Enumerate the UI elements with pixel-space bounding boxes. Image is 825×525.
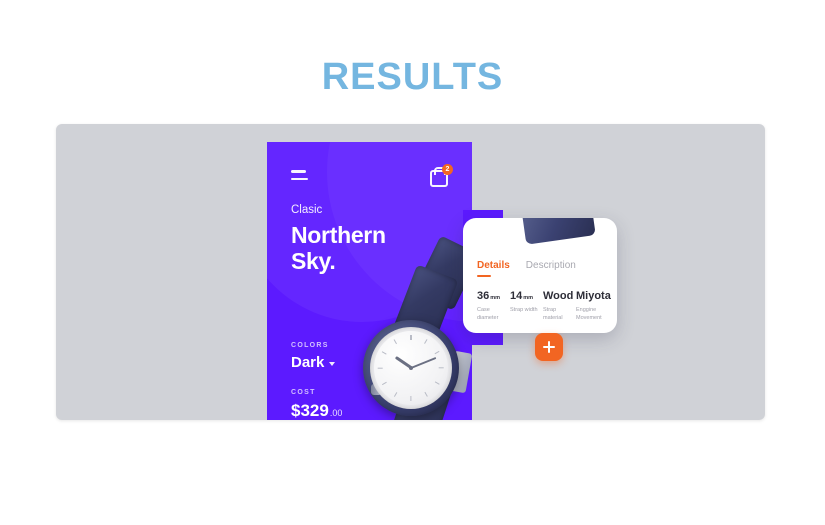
product-headline-block: Clasic Northern Sky. bbox=[291, 204, 456, 274]
watch-clasp bbox=[448, 351, 472, 394]
spec-label: Strap width bbox=[510, 306, 542, 314]
dial-tick bbox=[435, 351, 440, 355]
dial-tick bbox=[424, 339, 428, 344]
watch-center-pin bbox=[409, 366, 413, 370]
specs-row: 36mm Case diameter 14mm Strap width Wood… bbox=[477, 290, 611, 322]
shopping-bag-icon[interactable]: 2 bbox=[430, 166, 450, 188]
menu-bar-2 bbox=[291, 178, 308, 181]
cost-label: COST bbox=[291, 389, 401, 396]
watch-minute-hand bbox=[411, 357, 437, 369]
spec-value: Miyota bbox=[576, 290, 611, 302]
plus-icon-horizontal bbox=[543, 346, 555, 348]
spec-strap-width: 14mm Strap width bbox=[510, 290, 543, 322]
watch-strap-peek-image bbox=[520, 218, 595, 245]
dial-tick bbox=[435, 381, 440, 385]
dial-tick bbox=[410, 396, 411, 401]
spec-engine-movement: Miyota Enggine Movement bbox=[576, 290, 611, 322]
spec-number: 14 bbox=[510, 290, 522, 302]
dial-tick bbox=[439, 367, 444, 368]
price-display: $329 .00 bbox=[291, 401, 401, 420]
spec-number: Miyota bbox=[576, 290, 611, 302]
dial-tick bbox=[410, 335, 411, 340]
price-cents: .00 bbox=[330, 408, 343, 418]
spec-number: 36 bbox=[477, 290, 489, 302]
color-selected-value: Dark bbox=[291, 354, 324, 371]
spec-unit: mm bbox=[523, 295, 533, 301]
phone-mockup-screen: 2 Clasic Northern Sky. bbox=[267, 142, 472, 420]
product-title-line-1: Northern bbox=[291, 222, 456, 248]
spec-strap-material: Wood Strap material bbox=[543, 290, 576, 322]
dial-tick bbox=[424, 392, 428, 397]
spec-case-diameter: 36mm Case diameter bbox=[477, 290, 510, 322]
color-selector[interactable]: Dark bbox=[291, 354, 401, 371]
detail-card: Details Description 36mm Case diameter 1… bbox=[463, 218, 617, 333]
presentation-stage: 2 Clasic Northern Sky. bbox=[56, 124, 765, 420]
spec-value: 36mm bbox=[477, 290, 510, 302]
page-title: RESULTS bbox=[0, 56, 825, 99]
spec-value: 14mm bbox=[510, 290, 543, 302]
tab-description[interactable]: Description bbox=[526, 260, 576, 277]
spec-number: Wood bbox=[543, 290, 573, 302]
price-amount: $329 bbox=[291, 401, 329, 420]
product-title-line-2: Sky. bbox=[291, 248, 456, 274]
spec-label: Strap material bbox=[543, 306, 575, 322]
spec-unit: mm bbox=[490, 295, 500, 301]
spec-label: Enggine Movement bbox=[576, 306, 608, 322]
colors-label: COLORS bbox=[291, 342, 401, 349]
tab-details[interactable]: Details bbox=[477, 260, 510, 277]
detail-card-tabs: Details Description bbox=[477, 260, 576, 277]
phone-top-bar: 2 bbox=[267, 166, 472, 192]
spec-value: Wood bbox=[543, 290, 576, 302]
menu-bar-1 bbox=[291, 170, 306, 173]
add-to-cart-button[interactable] bbox=[535, 333, 563, 361]
hamburger-menu-icon[interactable] bbox=[291, 170, 309, 184]
spec-label: Case diameter bbox=[477, 306, 509, 322]
chevron-down-icon bbox=[329, 362, 335, 366]
product-subtitle: Clasic bbox=[291, 204, 456, 216]
watch-strap-upper bbox=[392, 265, 459, 348]
product-meta-block: COLORS Dark COST $329 .00 bbox=[291, 342, 401, 420]
bag-badge-count: 2 bbox=[442, 164, 453, 175]
